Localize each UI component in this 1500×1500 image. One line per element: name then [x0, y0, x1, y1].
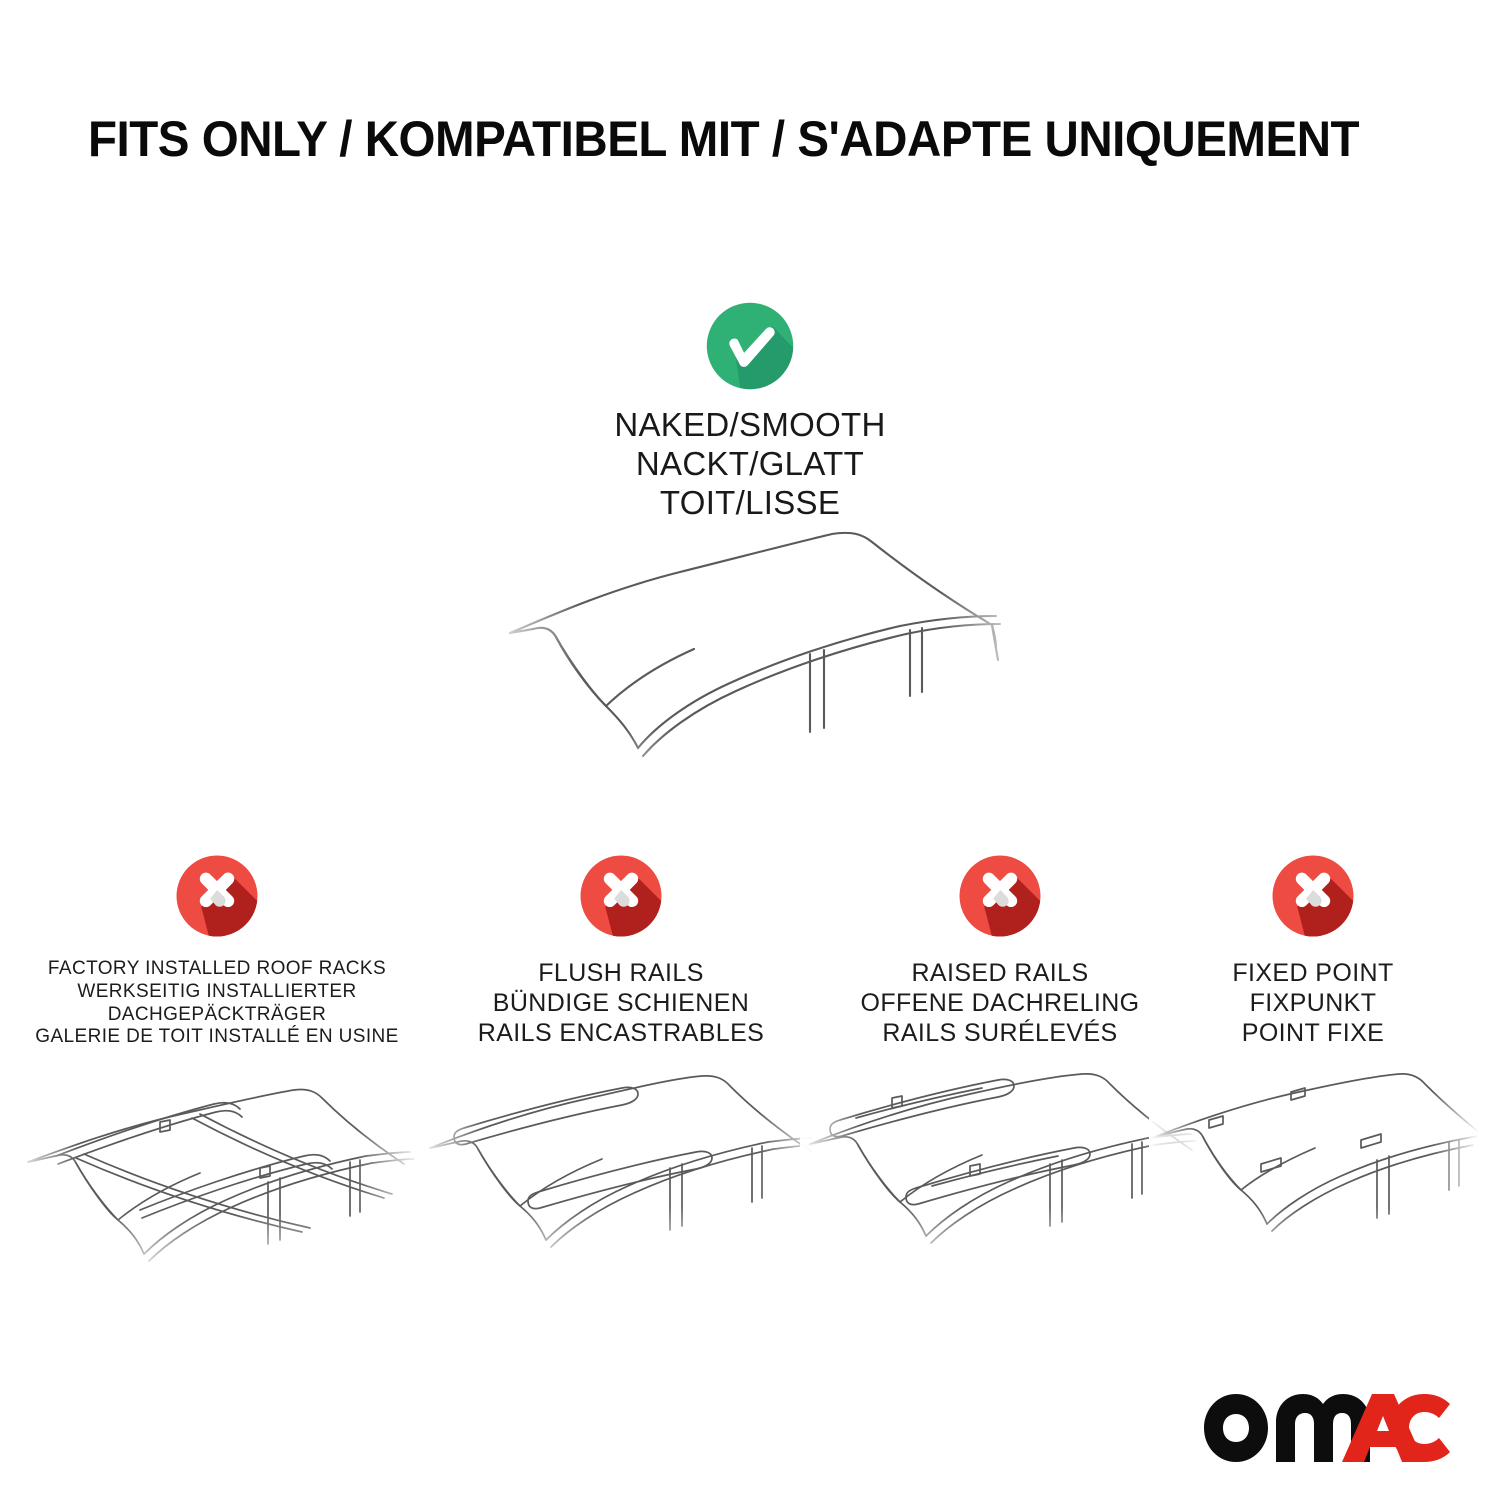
- fitment-diagram: FITS ONLY / KOMPATIBEL MIT / S'ADAPTE UN…: [0, 0, 1500, 1500]
- x-circle-icon: [956, 852, 1044, 940]
- car-roof-flush-rails-illustration: [418, 1070, 824, 1270]
- car-roof-factory-installed-roof-racks-illustration: [12, 1078, 422, 1278]
- incompatible-label-en: FLUSH RAILS: [418, 958, 824, 988]
- incompatible-label-fr: RAILS SURÉLEVÉS: [800, 1018, 1200, 1048]
- car-roof-fixed-point-illustration: [1149, 1070, 1479, 1270]
- incompatible-label-de: BÜNDIGE SCHIENEN: [418, 988, 824, 1018]
- incompatible-label-en: FIXED POINT: [1163, 958, 1463, 988]
- compatible-label-en: NAKED/SMOOTH: [420, 406, 1080, 445]
- incompatible-labels: FACTORY INSTALLED ROOF RACKS WERKSEITIG …: [12, 958, 422, 1049]
- incompatible-labels: FLUSH RAILS BÜNDIGE SCHIENEN RAILS ENCAS…: [418, 958, 824, 1048]
- compatible-label-de: NACKT/GLATT: [420, 445, 1080, 484]
- incompatible-label-de-2: DACHGEPÄCKTRÄGER: [12, 1004, 422, 1027]
- incompatible-labels: FIXED POINT FIXPUNKT POINT FIXE: [1163, 958, 1463, 1048]
- car-roof-naked-smooth-illustration: [480, 520, 1040, 810]
- incompatible-label-de-1: WERKSEITIG INSTALLIERTER: [12, 981, 422, 1004]
- incompatible-item-flush-rails: FLUSH RAILS BÜNDIGE SCHIENEN RAILS ENCAS…: [418, 852, 824, 1048]
- incompatible-label-fr: POINT FIXE: [1163, 1018, 1463, 1048]
- x-circle-icon: [577, 852, 665, 940]
- check-circle-icon: [704, 300, 796, 392]
- incompatible-label-fr: RAILS ENCASTRABLES: [418, 1018, 824, 1048]
- incompatible-label-de: OFFENE DACHRELING: [800, 988, 1200, 1018]
- incompatible-label-en: RAISED RAILS: [800, 958, 1200, 988]
- incompatible-item-fixed-point: FIXED POINT FIXPUNKT POINT FIXE: [1163, 852, 1463, 1048]
- compatible-label-fr: TOIT/LISSE: [420, 484, 1080, 523]
- page-title: FITS ONLY / KOMPATIBEL MIT / S'ADAPTE UN…: [88, 110, 1361, 168]
- incompatible-section: FACTORY INSTALLED ROOF RACKS WERKSEITIG …: [0, 852, 1500, 1272]
- incompatible-label-de: FIXPUNKT: [1163, 988, 1463, 1018]
- compatible-section: NAKED/SMOOTH NACKT/GLATT TOIT/LISSE: [420, 300, 1080, 523]
- x-circle-icon: [1269, 852, 1357, 940]
- incompatible-labels: RAISED RAILS OFFENE DACHRELING RAILS SUR…: [800, 958, 1200, 1048]
- incompatible-label-fr: GALERIE DE TOIT INSTALLÉ EN USINE: [12, 1026, 422, 1049]
- x-circle-icon: [173, 852, 261, 940]
- incompatible-item-raised-rails: RAISED RAILS OFFENE DACHRELING RAILS SUR…: [800, 852, 1200, 1048]
- car-roof-raised-rails-illustration: [800, 1070, 1200, 1270]
- incompatible-label-en: FACTORY INSTALLED ROOF RACKS: [12, 958, 422, 981]
- logo-letter-o: [1204, 1394, 1268, 1462]
- omac-logo: [1202, 1392, 1452, 1464]
- compatible-labels: NAKED/SMOOTH NACKT/GLATT TOIT/LISSE: [420, 406, 1080, 523]
- incompatible-item-factory-racks: FACTORY INSTALLED ROOF RACKS WERKSEITIG …: [12, 852, 422, 1049]
